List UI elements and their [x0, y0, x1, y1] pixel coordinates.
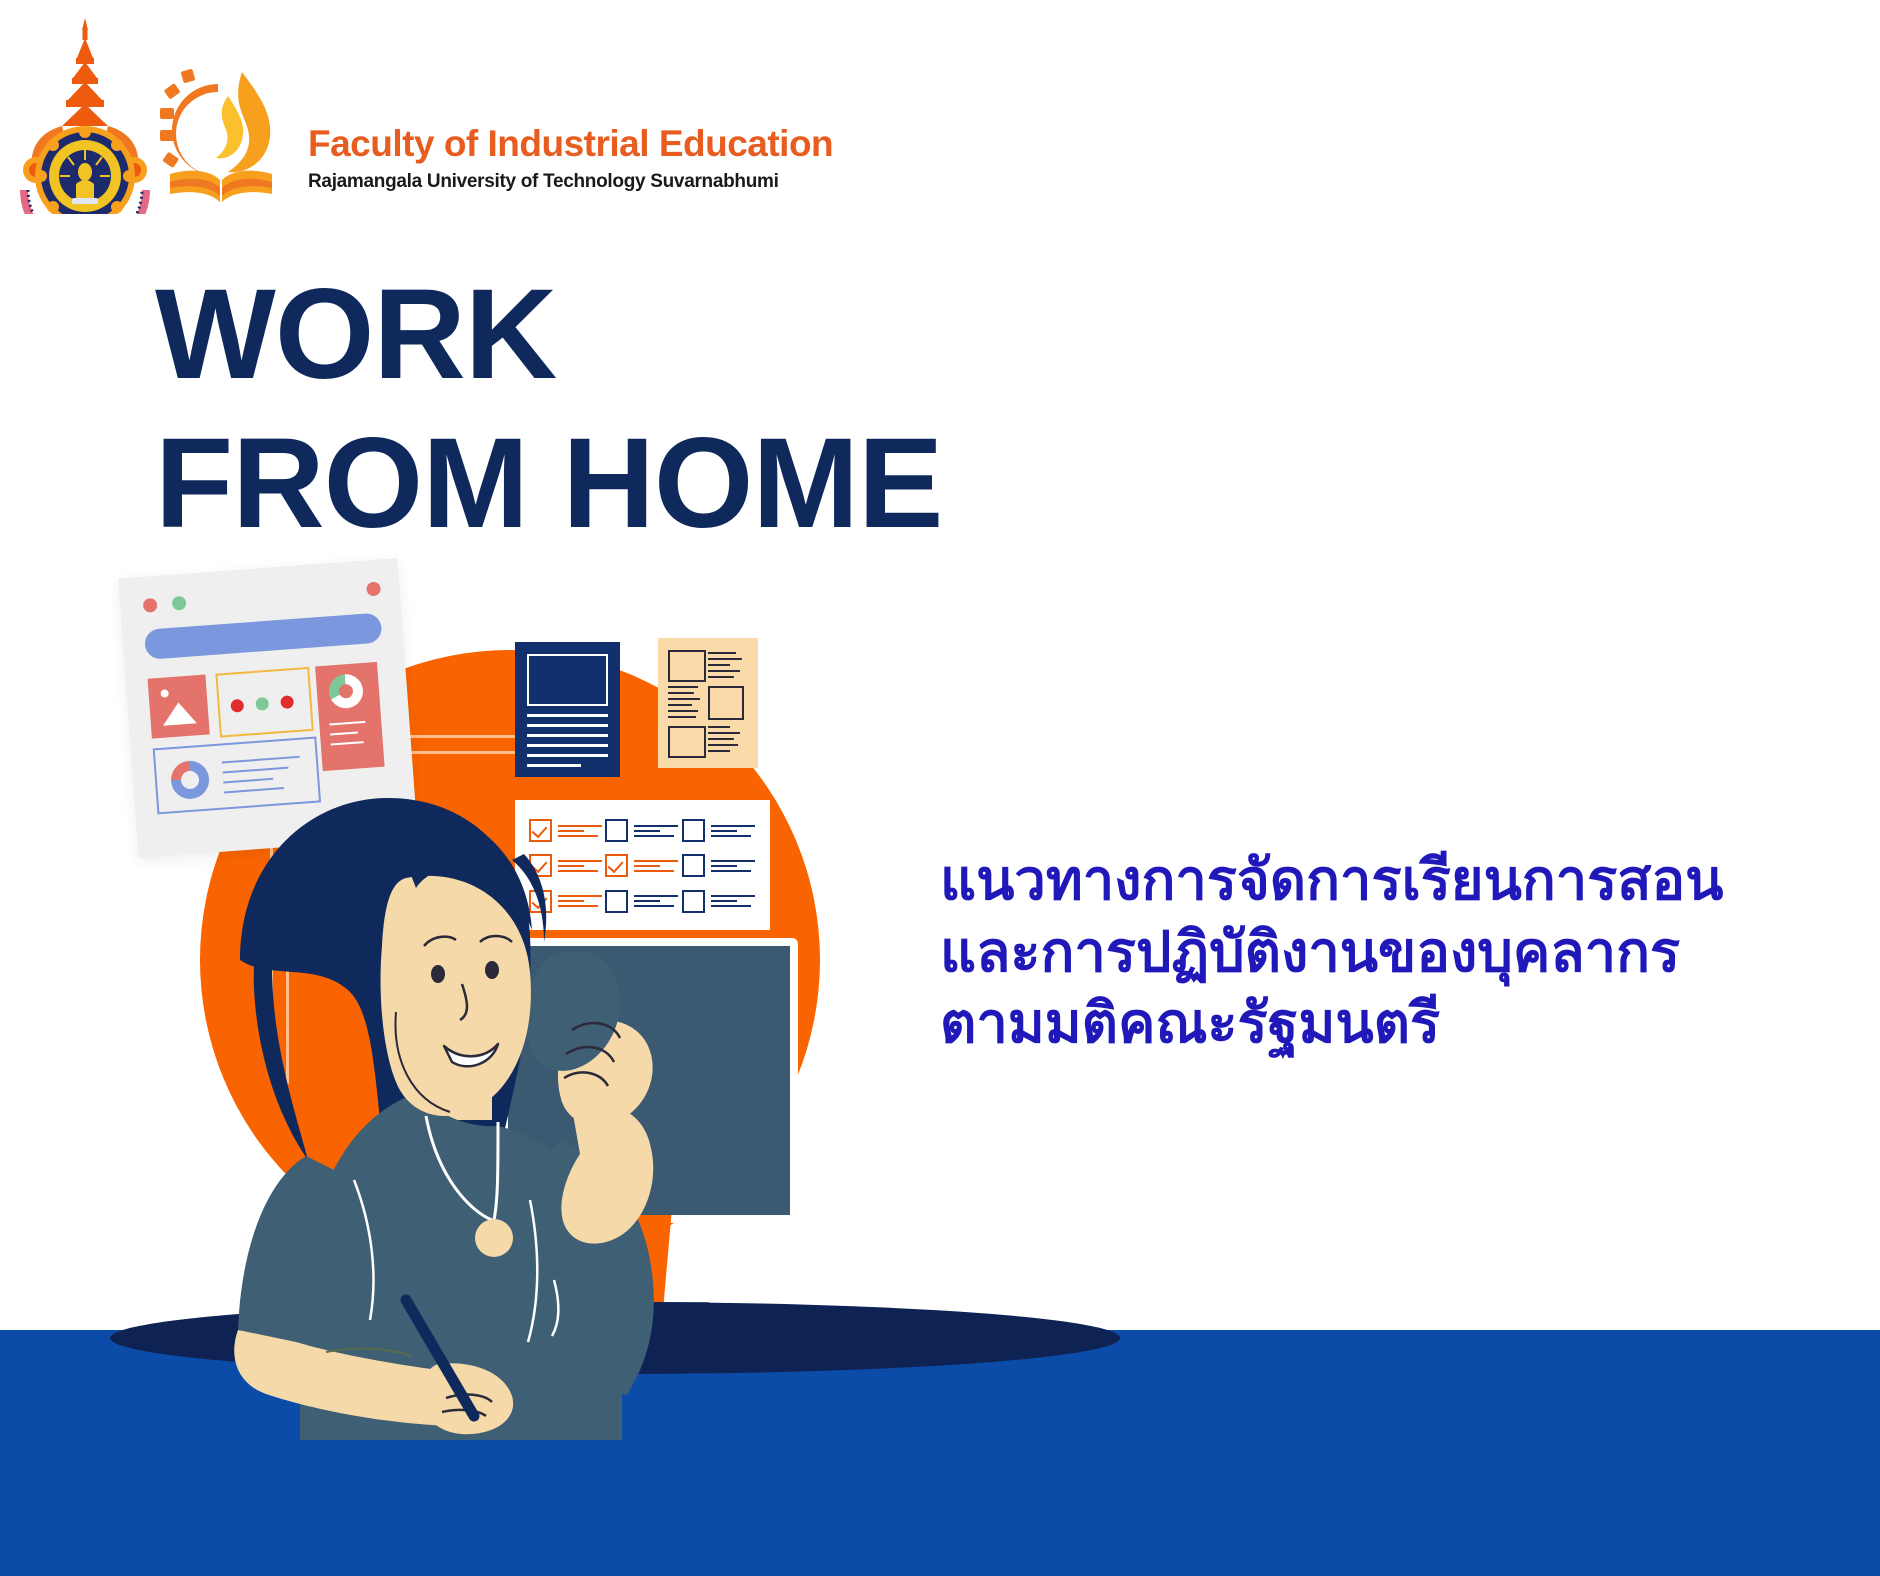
university-name: Rajamangala University of Technology Suv… [308, 171, 833, 193]
woman-on-phone-writing [120, 560, 1140, 1576]
brand-block: Faculty of Industrial Education Rajamang… [308, 125, 833, 193]
headline-line-1: WORK [155, 263, 556, 406]
header: Faculty of Industrial Education Rajamang… [0, 0, 1880, 230]
poster-canvas: Faculty of Industrial Education Rajamang… [0, 0, 1880, 1576]
headline-line-2: FROM HOME [155, 421, 942, 546]
rmutsu-royal-seal-logo [10, 14, 160, 214]
faculty-flame-gear-book-logo [160, 62, 282, 210]
page-title: WORK FROM HOME [155, 272, 942, 547]
illustration [120, 560, 1140, 1576]
faculty-name: Faculty of Industrial Education [308, 125, 833, 162]
